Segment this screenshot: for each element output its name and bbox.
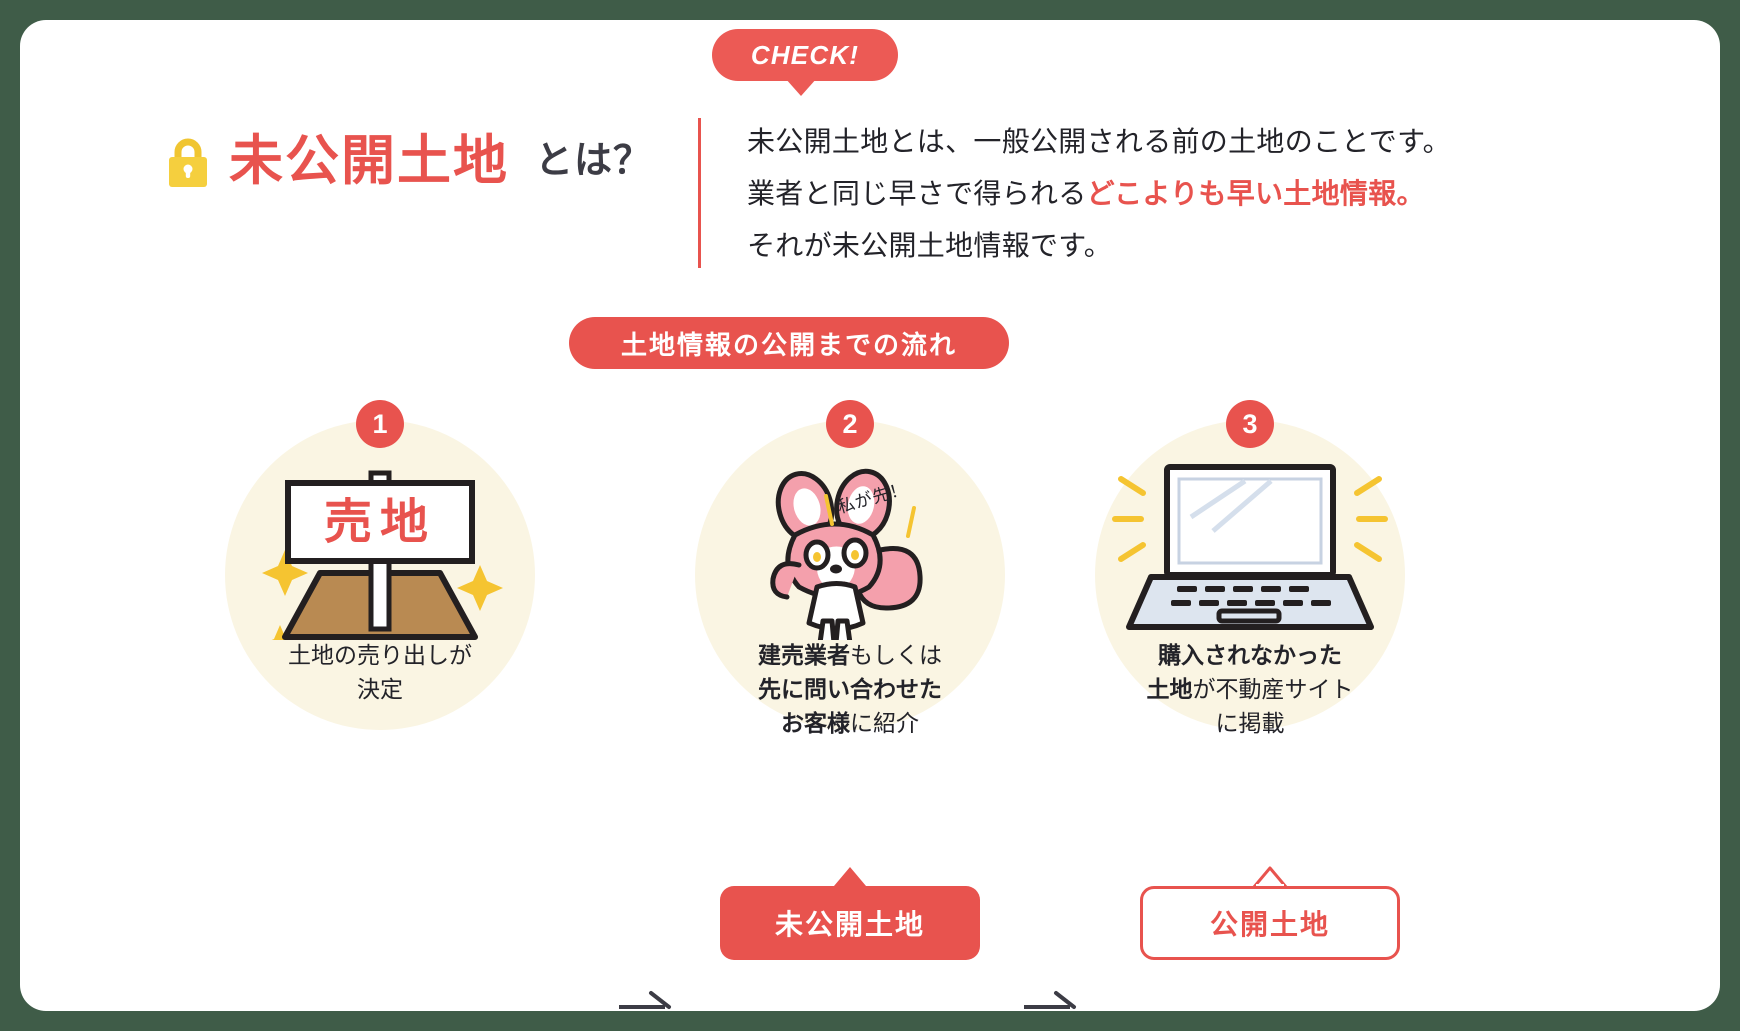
flow-step-2: 2	[695, 400, 1005, 710]
label-tail	[834, 867, 866, 886]
caption-text: もしくは	[850, 642, 942, 668]
caption-bold: 建売業者	[758, 642, 850, 668]
step-caption: 建売業者もしくは 先に問い合わせた お客様に紹介	[665, 638, 1035, 740]
header-description: 未公開土地とは、一般公開される前の土地のことです。 業者と同じ早さで得られるどこ…	[747, 116, 1507, 272]
description-text: 業者と同じ早さで得られる	[747, 178, 1087, 209]
infographic-card: CHECK! 未公開土地 とは？ 未公開土地とは、一般公開される前の土地のことで…	[20, 20, 1720, 1011]
description-line-2: 業者と同じ早さで得られるどこよりも早い土地情報。	[747, 168, 1507, 220]
step-number-badge: 2	[826, 400, 874, 448]
label-tail	[1252, 866, 1288, 887]
caption-bold: 土地	[1147, 676, 1193, 702]
description-text: それが未公開土地情報です。	[747, 230, 1112, 261]
step-caption: 土地の売り出しが 決定	[195, 638, 565, 706]
label-public-land-text: 公開土地	[1140, 886, 1400, 960]
caption-bold: 先に問い合わせた	[758, 676, 942, 702]
lock-icon	[165, 137, 211, 189]
laptop-icon	[1095, 455, 1405, 640]
caption-bold: お客様	[781, 710, 850, 736]
arrow-right-icon	[615, 985, 675, 1011]
flow-step-3: 3	[1095, 400, 1405, 710]
step-caption: 購入されなかった 土地が不動産サイト に掲載	[1065, 638, 1435, 740]
flow-header-pill: 土地情報の公開までの流れ	[569, 317, 1009, 369]
caption-text: に紹介	[850, 710, 919, 736]
label-private-land: 未公開土地	[720, 886, 980, 960]
check-badge-label: CHECK!	[751, 40, 859, 71]
description-line-3: それが未公開土地情報です。	[747, 220, 1507, 272]
description-text: 未公開土地とは、一般公開される前の土地のことです。	[747, 126, 1451, 157]
check-badge-tail	[785, 78, 817, 96]
label-public-land: 公開土地	[1140, 886, 1400, 960]
check-badge: CHECK!	[712, 29, 898, 81]
header: 未公開土地 とは？ 未公開土地とは、一般公開される前の土地のことです。 業者と同…	[20, 116, 1720, 286]
description-highlight: どこよりも早い土地情報。	[1087, 178, 1425, 209]
page-title-sub: とは？	[535, 142, 652, 180]
caption-bold: 購入されなかった	[1158, 642, 1342, 668]
land-for-sale-sign-icon: 売地	[225, 455, 535, 640]
caption-text: に掲載	[1216, 710, 1285, 736]
flow-step-1: 1 売地 土地の売り出しが 決定	[225, 400, 535, 710]
page-title: 未公開土地 とは？	[165, 134, 652, 188]
caption-text: 土地の売り出しが	[288, 642, 472, 668]
description-line-1: 未公開土地とは、一般公開される前の土地のことです。	[747, 116, 1507, 168]
flow-header-label: 土地情報の公開までの流れ	[621, 325, 957, 362]
arrow-right-icon	[1020, 985, 1080, 1011]
step-number-badge: 3	[1226, 400, 1274, 448]
flow-steps: 1 売地 土地の売り出しが 決定	[20, 400, 1720, 800]
page-title-main: 未公開土地	[229, 134, 509, 188]
label-private-land-text: 未公開土地	[720, 886, 980, 960]
mouse-speech: 私が先！	[818, 490, 928, 550]
caption-text: が不動産サイト	[1193, 676, 1354, 702]
caption-text: 決定	[357, 676, 403, 702]
step-number-badge: 1	[356, 400, 404, 448]
header-divider	[698, 118, 701, 268]
svg-text:売地: 売地	[324, 496, 436, 549]
